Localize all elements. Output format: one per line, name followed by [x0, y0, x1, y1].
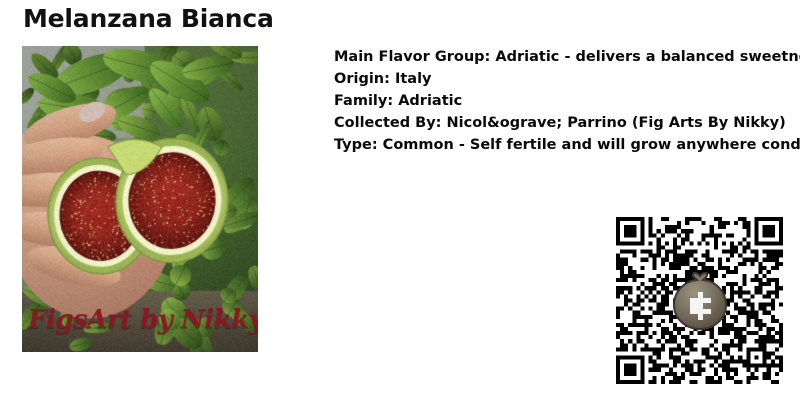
fig-details: Main Flavor Group: Adriatic - delivers a… [334, 46, 800, 166]
qr-code[interactable] [616, 217, 783, 384]
detail-origin: Origin: Italy [334, 68, 800, 90]
page-title: Melanzana Bianca [23, 4, 274, 34]
detail-family: Family: Adriatic [334, 90, 800, 112]
detail-collected-by: Collected By: Nicol&ograve; Parrino (Fig… [334, 112, 800, 134]
fig-photo: FigsArt by Nikky [22, 46, 258, 352]
qr-code-image[interactable] [616, 217, 783, 384]
detail-type: Type: Common - Self fertile and will gro… [334, 134, 800, 156]
detail-main-flavor-group: Main Flavor Group: Adriatic - delivers a… [334, 46, 800, 68]
fig-photo-image [22, 46, 258, 352]
